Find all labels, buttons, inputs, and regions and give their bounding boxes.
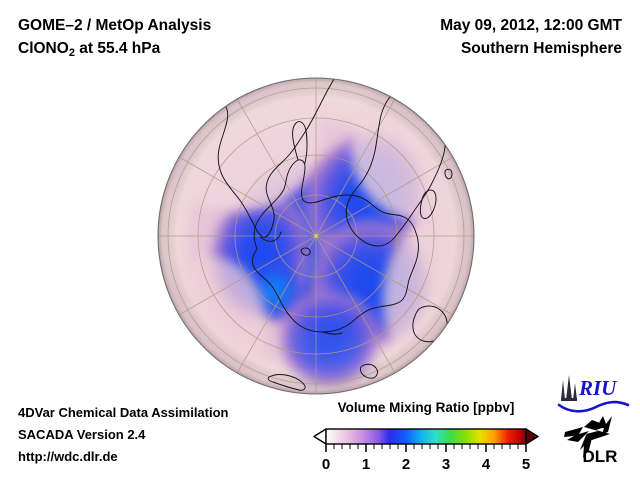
riu-logo: RIU	[559, 375, 628, 411]
riu-tower-base	[561, 398, 577, 401]
colorbar-tick-label-0: 0	[322, 456, 330, 473]
species-altitude-title: ClONO2 at 55.4 hPa	[18, 37, 211, 62]
colorbar-minor-ticks	[334, 444, 518, 449]
riu-tower-icon	[561, 380, 565, 400]
footer-left-block: 4DVar Chemical Data Assimilation SACADA …	[18, 402, 229, 468]
colorbar-tick-labels: 0 1 2 3 4 5	[322, 456, 530, 473]
logo-block: RIU DLR	[556, 372, 634, 468]
dlr-logo-text: DLR	[583, 447, 618, 466]
riu-swoosh-icon	[559, 402, 628, 411]
colorbar-major-ticks	[326, 444, 526, 452]
visualization-page: GOME–2 / MetOp Analysis ClONO2 at 55.4 h…	[0, 0, 640, 480]
species-label: ClONO	[18, 40, 69, 57]
south-pole-marker	[314, 234, 318, 238]
hemisphere-label: Southern Hemisphere	[440, 37, 622, 60]
globe-map	[157, 77, 475, 395]
colorbar-tick-label-1: 1	[362, 456, 370, 473]
dlr-logo: DLR	[564, 416, 617, 466]
riu-tower-icon-3	[573, 383, 577, 400]
colorbar-title: Volume Mixing Ratio [ppbv]	[312, 400, 540, 415]
timestamp-label: May 09, 2012, 12:00 GMT	[440, 14, 622, 37]
header-left-block: GOME–2 / MetOp Analysis ClONO2 at 55.4 h…	[18, 14, 211, 62]
orthographic-projection-svg	[157, 77, 475, 395]
colorbar-extend-low-arrow	[314, 429, 326, 444]
colorbar-gradient-bar	[326, 429, 526, 444]
riu-tower-icon-2	[566, 375, 572, 400]
colorbar-block: Volume Mixing Ratio [ppbv]	[312, 400, 540, 475]
website-url[interactable]: http://wdc.dlr.de	[18, 446, 229, 468]
altitude-label: at 55.4 hPa	[75, 40, 160, 57]
colorbar-tick-label-5: 5	[522, 456, 530, 473]
colorbar-svg: 0 1 2 3 4 5	[312, 419, 540, 475]
method-label: 4DVar Chemical Data Assimilation	[18, 402, 229, 424]
colorbar-extend-high-arrow	[526, 429, 538, 444]
colorbar-tick-label-3: 3	[442, 456, 450, 473]
version-label: SACADA Version 2.4	[18, 424, 229, 446]
header-right-block: May 09, 2012, 12:00 GMT Southern Hemisph…	[440, 14, 622, 60]
species-subscript: 2	[69, 47, 75, 59]
colorbar-tick-label-4: 4	[482, 456, 491, 473]
colorbar-tick-label-2: 2	[402, 456, 410, 473]
instrument-title: GOME–2 / MetOp Analysis	[18, 14, 211, 37]
riu-logo-text: RIU	[578, 376, 618, 400]
logos-svg: RIU DLR	[556, 372, 634, 468]
